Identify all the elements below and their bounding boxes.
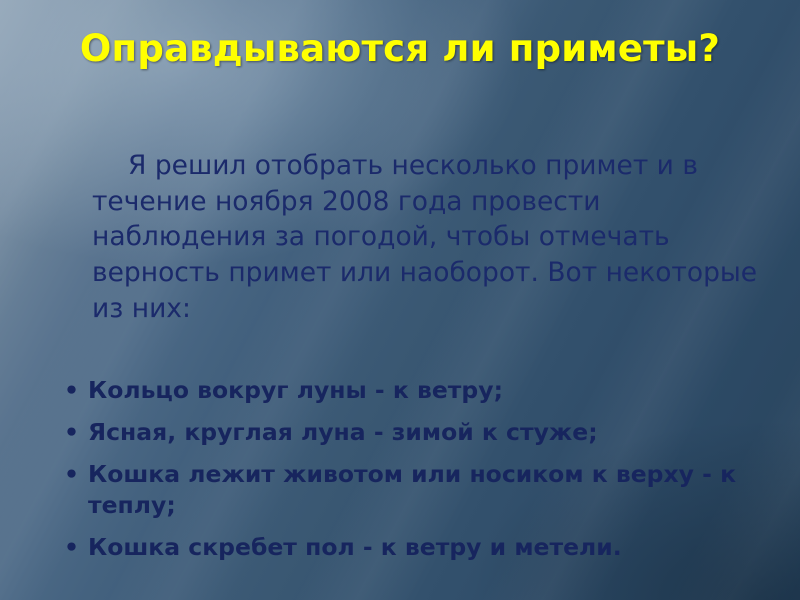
bullet-icon: • [64, 532, 79, 563]
slide-title: Оправдываются ли приметы? [60, 26, 740, 73]
list-item: • Кошка лежит животом или носиком к верх… [40, 459, 780, 521]
list-item-label: Ясная, круглая луна - зимой к стуже; [88, 418, 598, 446]
list-item: • Кошка скребет пол - к ветру и метели. [40, 532, 780, 563]
list-item-label: Кошка скребет пол - к ветру и метели. [88, 533, 622, 561]
slide-canvas: Оправдываются ли приметы? Я решил отобра… [0, 0, 800, 600]
omens-list: • Кольцо вокруг луны - к ветру; • Ясная,… [40, 375, 780, 574]
list-item-label: Кошка лежит животом или носиком к верху … [88, 460, 736, 519]
bullet-icon: • [64, 459, 79, 490]
bullet-icon: • [64, 417, 79, 448]
list-item: • Ясная, круглая луна - зимой к стуже; [40, 417, 780, 448]
bullet-icon: • [64, 375, 79, 406]
list-item: • Кольцо вокруг луны - к ветру; [40, 375, 780, 406]
list-item-label: Кольцо вокруг луны - к ветру; [88, 376, 503, 404]
intro-paragraph: Я решил отобрать несколько примет и в те… [92, 148, 764, 326]
